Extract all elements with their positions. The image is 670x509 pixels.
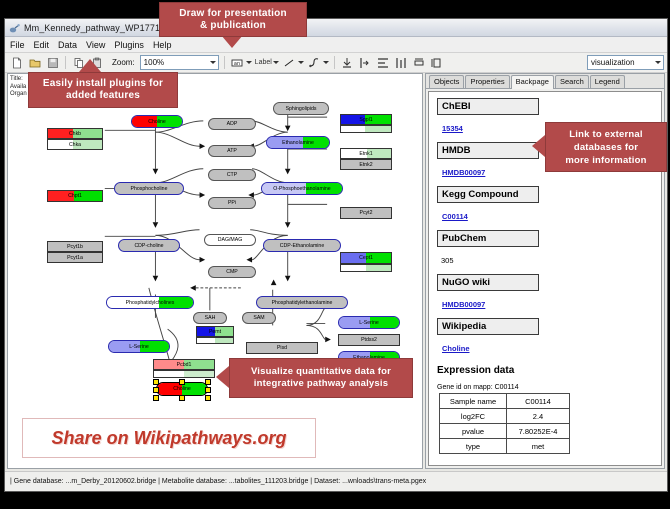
distribute-horizontal-icon[interactable] — [394, 55, 409, 70]
annotation-draw-line1: Draw for presentation — [179, 8, 287, 20]
zoom-value: 100% — [144, 58, 164, 67]
visualization-combo[interactable]: visualization — [587, 55, 664, 70]
node-label: DAG/MAG — [218, 237, 243, 243]
annotation-share: Share on Wikipathways.org — [22, 418, 316, 458]
gene-node[interactable] — [196, 337, 234, 344]
visualization-value: visualization — [591, 58, 635, 67]
gene-node[interactable] — [340, 264, 392, 272]
gene-node[interactable]: Pisd — [246, 342, 318, 354]
node-label: Chkb — [69, 131, 81, 137]
db-header-pubchem: PubChem — [437, 230, 539, 247]
node-label: SAM — [253, 315, 264, 321]
tab-properties[interactable]: Properties — [465, 75, 509, 88]
pathvisio-icon — [9, 22, 20, 33]
same-height-icon[interactable] — [430, 55, 445, 70]
gene-node[interactable]: Etnk1 — [340, 148, 392, 159]
tab-objects[interactable]: Objects — [429, 75, 464, 88]
pathway-canvas[interactable]: Title: Availa Organ — [7, 73, 423, 469]
status-bar: | Gene database: ...m_Derby_20120602.bri… — [5, 471, 667, 491]
node-label: ATP — [227, 148, 237, 154]
metabolite-node[interactable]: ATP — [208, 145, 256, 157]
gene-node[interactable]: Chkb — [47, 128, 103, 139]
node-label: Phosphatidylcholines — [126, 300, 175, 306]
tab-backpage[interactable]: Backpage — [511, 75, 554, 89]
db-header-kegg: Kegg Compound — [437, 186, 539, 203]
db-header-wikipedia: Wikipedia — [437, 318, 539, 335]
gene-node[interactable]: Etnk2 — [340, 159, 392, 170]
node-label: Pcyt1b — [67, 244, 83, 250]
gene-node[interactable]: Cept1 — [340, 252, 392, 264]
metabolite-node[interactable]: L-Serine — [338, 316, 400, 329]
zoom-label: Zoom: — [112, 58, 135, 67]
node-label: Pisd — [277, 345, 287, 351]
metabolite-node[interactable]: CDP-choline — [118, 239, 180, 252]
metabolite-node[interactable]: L-Serine — [108, 340, 170, 353]
metabolite-node[interactable]: CTP — [208, 169, 256, 181]
side-panel-tabs[interactable]: Objects Properties Backpage Search Legen… — [426, 74, 664, 89]
align-left-icon[interactable] — [358, 55, 373, 70]
chevron-down-icon — [298, 61, 304, 64]
gene-node[interactable]: Pcyt1b — [47, 241, 103, 252]
metabolite-node[interactable]: PPi — [208, 197, 256, 209]
db-header-hmdb: HMDB — [437, 142, 539, 159]
node-label: L-Serine — [359, 320, 379, 326]
metabolite-node[interactable]: O-Phosphoethanolamine — [261, 182, 343, 195]
toolbar-separator-2 — [224, 56, 225, 69]
node-label: Phosphocholine — [131, 186, 168, 192]
node-label: SAH — [205, 315, 216, 321]
annotation-visualize: Visualize quantitative data for integrat… — [229, 358, 413, 398]
chevron-down-icon — [323, 61, 329, 64]
label-dropdown[interactable]: Label — [255, 59, 279, 66]
expression-table: Sample name C00114 log2FC 2.4 pvalue 7.8… — [439, 393, 570, 454]
gene-node[interactable]: Pcyt2 — [340, 207, 392, 219]
selection-handle[interactable] — [179, 395, 185, 401]
node-label: O-Phosphoethanolamine — [273, 186, 330, 192]
node-label: Etnk2 — [359, 162, 372, 168]
annotation-link-line2: databases for — [574, 141, 638, 154]
node-label: Choline — [148, 119, 166, 125]
annotation-draw: Draw for presentation & publication — [159, 2, 307, 37]
db-header-chebi: ChEBI — [437, 98, 539, 115]
node-label: Ptdss2 — [361, 337, 377, 343]
svg-text:an: an — [234, 61, 240, 67]
annotation-visualize-line2: integrative pathway analysis — [254, 378, 388, 390]
menu-item-view[interactable]: View — [86, 40, 105, 50]
node-label: L-Serine — [129, 344, 149, 350]
node-label: Pemt — [209, 329, 221, 335]
chevron-down-icon — [655, 61, 661, 64]
gene-node[interactable] — [153, 370, 215, 378]
metabolite-node[interactable]: Ethanolamine — [266, 136, 330, 149]
metabolite-node[interactable]: CMP — [208, 266, 256, 278]
node-label: CMP — [226, 269, 238, 275]
metabolite-node[interactable]: Phosphatidylethanolamine — [256, 296, 348, 309]
exp-key: log2FC — [440, 409, 507, 424]
toolbar-separator — [65, 56, 66, 69]
table-row: log2FC 2.4 — [440, 409, 570, 424]
menu-item-edit[interactable]: Edit — [34, 40, 50, 50]
annotation-draw-line2: & publication — [200, 20, 266, 32]
table-row: type met — [440, 439, 570, 454]
status-text: | Gene database: ...m_Derby_20120602.bri… — [10, 478, 426, 485]
selection-handle[interactable] — [205, 395, 211, 401]
gene-node[interactable]: Pemt — [196, 326, 234, 337]
gene-node[interactable]: Ptdss2 — [338, 334, 400, 346]
node-label: CTP — [227, 172, 237, 178]
line-dropdown[interactable] — [282, 55, 304, 70]
exp-value: met — [507, 439, 570, 454]
annotation-share-text: Share on Wikipathways.org — [52, 428, 287, 449]
metabolite-node[interactable]: DAG/MAG — [204, 234, 256, 246]
node-label: Phosphatidylethanolamine — [272, 300, 333, 306]
node-label: Cept1 — [359, 255, 373, 261]
annotation-link-line1: Link to external — [569, 128, 642, 141]
menu-item-help[interactable]: Help — [153, 40, 172, 50]
node-label: Etnk1 — [359, 151, 372, 157]
exp-key: Sample name — [440, 394, 507, 409]
metabolite-node[interactable]: CDP-Ethanolamine — [263, 239, 341, 252]
new-file-icon[interactable] — [9, 55, 24, 70]
node-label: Chka — [69, 142, 81, 148]
exp-value: 2.4 — [507, 409, 570, 424]
table-row: Sample name C00114 — [440, 394, 570, 409]
db-link-hmdb[interactable]: HMDB00097 — [442, 168, 485, 177]
interaction-icon[interactable] — [307, 55, 322, 70]
node-label: Choline — [173, 386, 191, 392]
gene-id-line: Gene id on mapp: C00114 — [437, 384, 661, 391]
exp-value: 7.80252E-4 — [507, 424, 570, 439]
tab-legend[interactable]: Legend — [590, 75, 625, 88]
menu-item-plugins[interactable]: Plugins — [114, 40, 144, 50]
exp-value: C00114 — [507, 394, 570, 409]
metabolite-node[interactable]: Phosphocholine — [114, 182, 184, 195]
node-label: Pcyt2 — [360, 210, 373, 216]
db-header-nugo: NuGO wiki — [437, 274, 539, 291]
zoom-combo[interactable]: 100% — [140, 55, 219, 70]
node-label: PPi — [228, 200, 236, 206]
selection-handle[interactable] — [179, 379, 185, 385]
selection-handle[interactable] — [153, 379, 159, 385]
table-row: pvalue 7.80252E-4 — [440, 424, 570, 439]
gene-node[interactable]: Sgpl1 — [340, 114, 392, 125]
annotation-link-line3: more information — [565, 154, 646, 167]
interaction-dropdown[interactable] — [307, 55, 329, 70]
node-label: Sphingolipids — [286, 106, 317, 112]
pathway-nodes: Sphingolipids Choline Ethanolamine ADP A… — [8, 74, 422, 468]
menu-item-data[interactable]: Data — [58, 40, 77, 50]
same-width-icon[interactable] — [412, 55, 427, 70]
metabolite-node[interactable]: Choline — [131, 115, 183, 128]
db-link-kegg[interactable]: C00114 — [442, 212, 468, 221]
selection-handle[interactable] — [153, 395, 159, 401]
tool-bar[interactable]: Zoom: 100% an Label — [5, 53, 667, 73]
metabolite-node[interactable]: ADP — [208, 118, 256, 130]
exp-key: type — [440, 439, 507, 454]
db-link-chebi[interactable]: 15354 — [442, 124, 463, 133]
annotation-plugins: Easily install plugins for added feature… — [28, 72, 178, 108]
datanode-icon[interactable]: an — [230, 55, 245, 70]
node-label: Ethanolamine — [282, 140, 314, 146]
gene-node[interactable]: Chka — [47, 139, 103, 150]
db-link-wikipedia[interactable]: Choline — [442, 344, 470, 353]
open-folder-icon[interactable] — [27, 55, 42, 70]
distribute-vertical-icon[interactable] — [376, 55, 391, 70]
selection-handle[interactable] — [153, 387, 159, 393]
gene-node[interactable] — [340, 125, 392, 133]
metabolite-node[interactable]: Sphingolipids — [273, 102, 329, 115]
metabolite-node[interactable]: SAM — [242, 312, 276, 324]
node-label: Pcbd1 — [177, 362, 192, 368]
selection-handle[interactable] — [205, 379, 211, 385]
metabolite-node[interactable]: SAH — [193, 312, 227, 324]
datanode-dropdown[interactable]: an — [230, 55, 252, 70]
tab-search[interactable]: Search — [555, 75, 589, 88]
toolbar-separator-3 — [334, 56, 335, 69]
chevron-down-icon — [246, 61, 252, 64]
db-value-pubchem: 305 — [441, 256, 454, 265]
annotation-link-arrow — [532, 135, 545, 157]
line-icon[interactable] — [282, 55, 297, 70]
node-label: CDP-Ethanolamine — [280, 243, 324, 249]
node-label: Chpt1 — [68, 193, 82, 199]
node-label: CDP-choline — [134, 243, 163, 249]
annotation-plugins-arrow — [79, 59, 101, 72]
node-label: ADP — [227, 121, 238, 127]
chevron-down-icon — [210, 61, 216, 64]
annotation-link: Link to external databases for more info… — [545, 122, 667, 172]
node-label: Pcyt1a — [67, 255, 83, 261]
align-top-icon[interactable] — [340, 55, 355, 70]
gene-node[interactable]: Chpt1 — [47, 190, 103, 202]
title-bar: Mm_Kennedy_pathway_WP1771_45176.gpml — [5, 19, 667, 37]
annotation-visualize-line1: Visualize quantitative data for — [251, 366, 391, 378]
annotation-plugins-line2: added features — [66, 90, 140, 102]
gene-node[interactable]: Pcyt1a — [47, 252, 103, 263]
exp-key: pvalue — [440, 424, 507, 439]
expression-data-heading: Expression data — [437, 365, 661, 376]
menu-item-file[interactable]: File — [10, 40, 25, 50]
menu-bar[interactable]: File Edit Data View Plugins Help — [5, 37, 667, 53]
selection-handle[interactable] — [205, 387, 211, 393]
node-label: Sgpl1 — [359, 117, 372, 123]
screenshot-root: Mm_Kennedy_pathway_WP1771_45176.gpml Fil… — [0, 0, 670, 509]
gene-node[interactable]: Pcbd1 — [153, 359, 215, 370]
annotation-plugins-line1: Easily install plugins for — [43, 78, 163, 90]
label-icon[interactable]: Label — [255, 59, 272, 66]
metabolite-node[interactable]: Phosphatidylcholines — [106, 296, 194, 309]
save-icon[interactable] — [45, 55, 60, 70]
annotation-visualize-arrow — [216, 366, 229, 388]
db-link-nugo[interactable]: HMDB00097 — [442, 300, 485, 309]
chevron-down-icon — [273, 61, 279, 64]
